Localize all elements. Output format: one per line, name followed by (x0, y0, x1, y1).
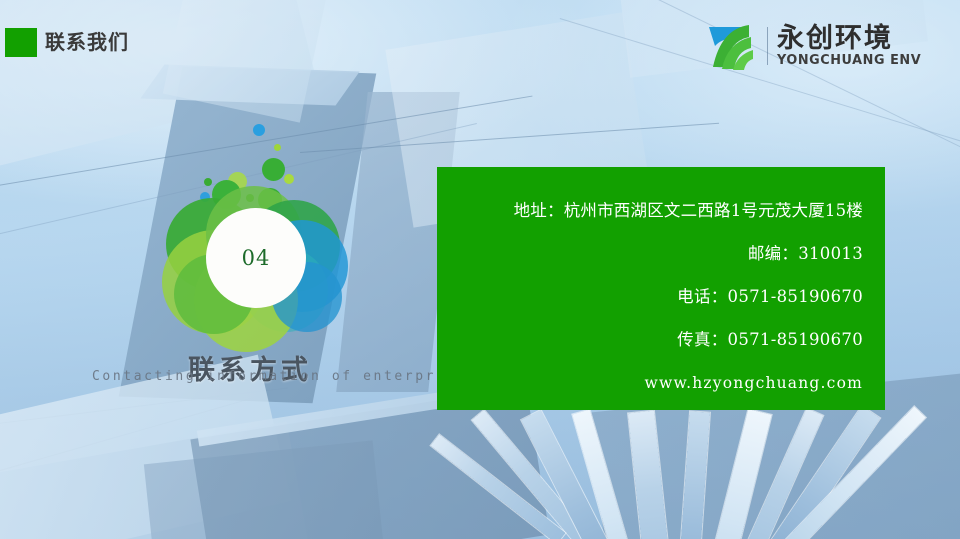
slide-canvas: 联系我们 永创环境 YONGCHUANG ENV (0, 0, 960, 539)
bubble-blue-top (253, 124, 265, 136)
contact-website: www.hzyongchuang.com (463, 373, 863, 393)
bubble-green-a (262, 158, 285, 181)
contact-address: 地址：杭州市西湖区文二西路1号元茂大厦15楼 (463, 201, 863, 221)
badge-core-circle: 04 (206, 208, 306, 308)
leaf-swoosh-icon (705, 21, 763, 71)
logo-name-cn: 永创环境 (777, 24, 929, 53)
section-number-badge: 04 (160, 130, 360, 345)
contact-fax: 传真：0571-85190670 (463, 330, 863, 350)
logo-name-en: YONGCHUANG ENV (777, 53, 921, 68)
bubble-green-small-c (204, 178, 212, 186)
logo-divider (767, 27, 768, 65)
header-accent-chip (5, 28, 37, 57)
contact-postcode: 邮编：310013 (463, 244, 863, 264)
badge-number: 04 (242, 246, 271, 270)
bubble-lime-small-a (274, 144, 281, 151)
logo-text-block: 永创环境 YONGCHUANG ENV (777, 24, 929, 68)
section-title-en: Contacting information of enterprise (92, 369, 467, 384)
company-logo: 永创环境 YONGCHUANG ENV (705, 20, 920, 72)
contact-phone: 电话：0571-85190670 (463, 287, 863, 307)
contact-info-panel: 地址：杭州市西湖区文二西路1号元茂大厦15楼 邮编：310013 电话：0571… (437, 167, 885, 410)
bubble-lime-b (284, 174, 294, 184)
page-title: 联系我们 (45, 28, 129, 57)
